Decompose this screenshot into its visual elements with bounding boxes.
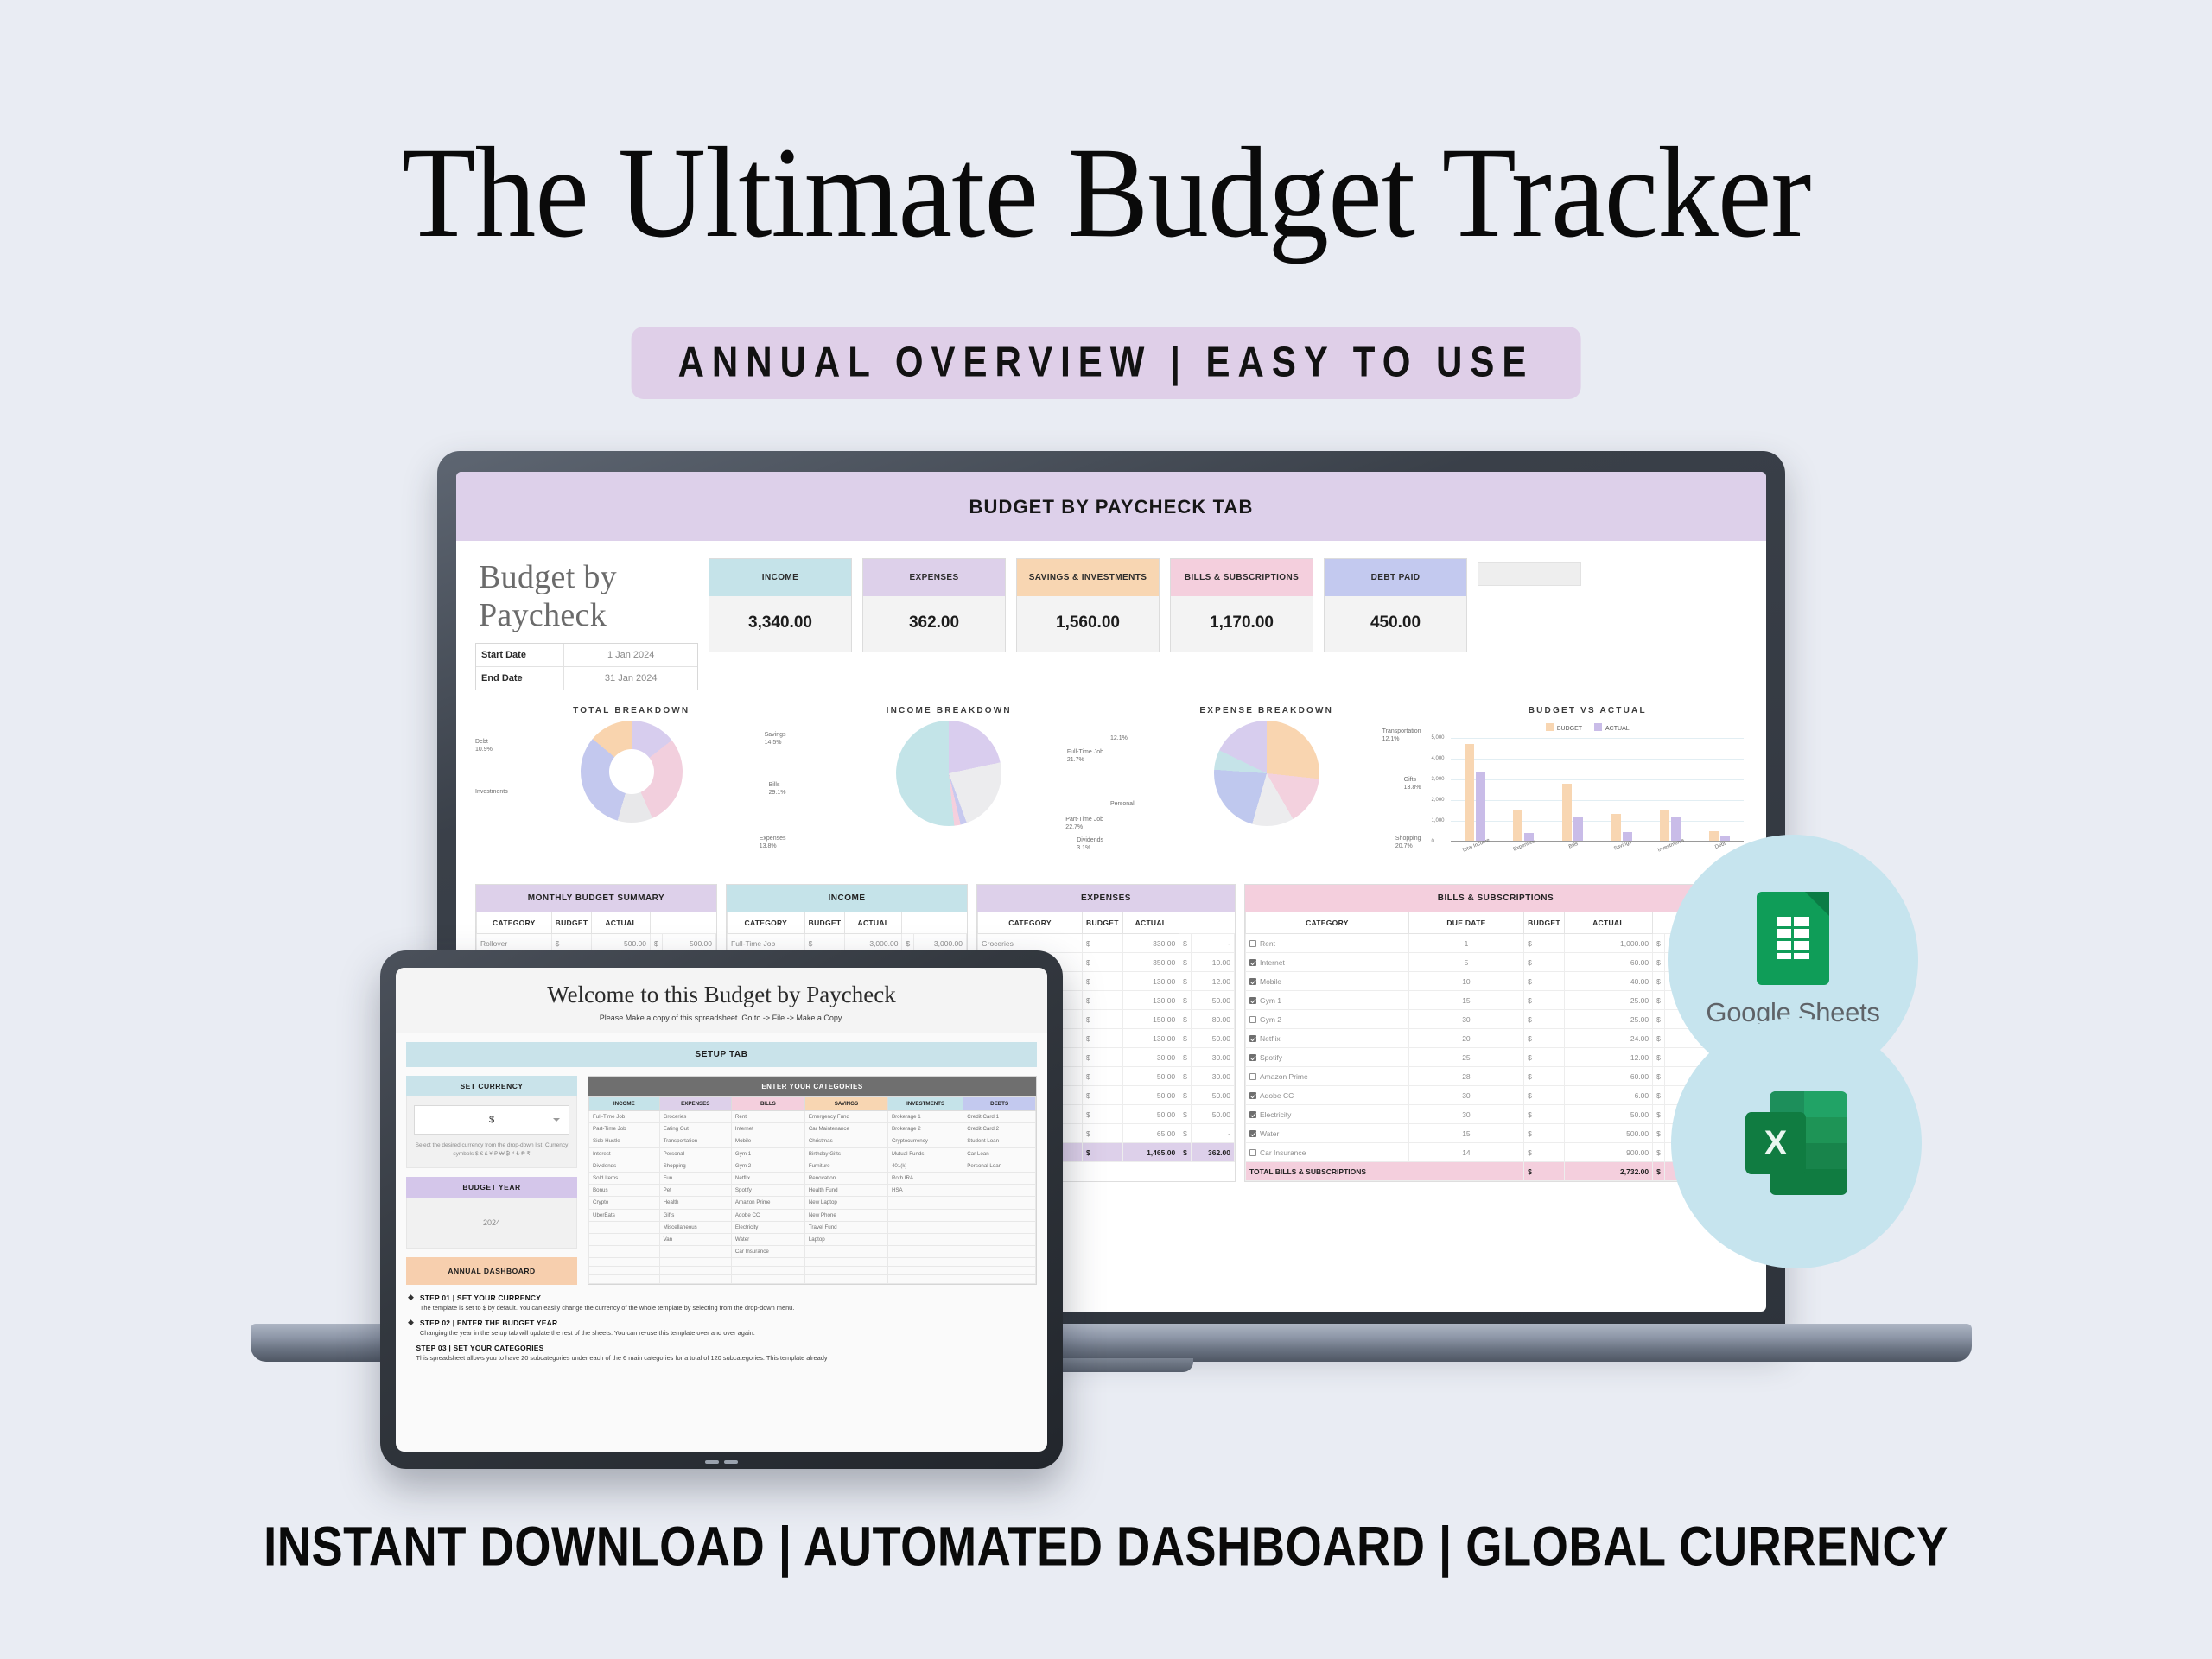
cat-cell[interactable]: Personal [659, 1147, 731, 1160]
cat-cell[interactable]: Fun [659, 1172, 731, 1184]
cat-cell[interactable]: Car Maintenance [804, 1123, 887, 1135]
cat-row: Part-Time JobEating OutInternetCar Maint… [589, 1123, 1036, 1135]
cell-category[interactable]: Spotify [1246, 1048, 1409, 1067]
cat-cell[interactable]: Gym 1 [731, 1147, 804, 1160]
cat-cell[interactable]: Health Fund [804, 1185, 887, 1197]
cat-cell[interactable]: Groceries [659, 1111, 731, 1123]
y-tick: 0 [1432, 839, 1434, 844]
cell-due-date[interactable]: 14 [1408, 1143, 1523, 1162]
kpi-card: SAVINGS & INVESTMENTS 1,560.00 [1016, 558, 1160, 652]
cell-budget[interactable]: 330.00 [1122, 934, 1179, 953]
col-header: BUDGET [1524, 912, 1565, 934]
cell-category[interactable]: Water [1246, 1124, 1409, 1143]
bar-group [1562, 784, 1583, 841]
cat-row: VanWaterLaptop [589, 1233, 1036, 1245]
slice-label: Savings14.5% [765, 732, 786, 747]
sheet-grid-icon [1773, 914, 1813, 959]
cat-cell[interactable] [963, 1267, 1036, 1275]
cat-cell[interactable] [887, 1258, 963, 1267]
cat-cell[interactable]: Side Hustle [589, 1135, 660, 1147]
col-header: CATEGORY [728, 912, 805, 934]
subtitle-text: ANNUAL OVERVIEW | EASY TO USE [678, 338, 1535, 387]
categories-caption: ENTER YOUR CATEGORIES [588, 1077, 1036, 1096]
cell-actual[interactable]: 10.00 [1191, 953, 1234, 972]
step-title: STEP 03 | SET YOUR CATEGORIES [416, 1344, 828, 1352]
cell-budget[interactable]: 25.00 [1564, 991, 1652, 1010]
bill-checkbox[interactable] [1249, 1073, 1256, 1080]
tablet-screen: Welcome to this Budget by Paycheck Pleas… [396, 968, 1047, 1452]
bar-budget [1465, 744, 1474, 841]
chart-title: TOTAL BREAKDOWN [475, 706, 788, 715]
cat-cell[interactable]: Cryptocurrency [887, 1135, 963, 1147]
tablet-header: Welcome to this Budget by Paycheck Pleas… [396, 968, 1047, 1033]
excel-badge: X [1671, 1018, 1922, 1268]
kpi-label: BILLS & SUBSCRIPTIONS [1171, 559, 1313, 596]
table-row: Gym 1 15 $25.00 $25.00 [1246, 991, 1746, 1010]
cat-cell[interactable]: HSA [887, 1185, 963, 1197]
table-row: Electricity 30 $50.00 $ [1246, 1105, 1746, 1124]
table-caption: BILLS & SUBSCRIPTIONS [1245, 885, 1746, 912]
total-actual: 362.00 [1191, 1143, 1234, 1162]
cat-cell[interactable] [731, 1267, 804, 1275]
bar-group [1513, 810, 1534, 841]
bar-actual [1573, 817, 1583, 841]
cat-cell[interactable] [887, 1209, 963, 1221]
bar-budget [1709, 831, 1719, 841]
cat-cell[interactable]: Interest [589, 1147, 660, 1160]
bar-budget [1513, 810, 1522, 841]
chart-title: EXPENSE BREAKDOWN [1110, 706, 1423, 715]
legend-actual: ACTUAL [1605, 726, 1630, 732]
cat-cell[interactable]: Mobile [731, 1135, 804, 1147]
cat-cell[interactable]: Dividends [589, 1160, 660, 1172]
cell-budget[interactable]: 1,000.00 [1564, 934, 1652, 953]
cell-actual[interactable]: 30.00 [1191, 1048, 1234, 1067]
cell-budget[interactable]: 900.00 [1564, 1143, 1652, 1162]
y-tick: 3,000 [1432, 777, 1445, 782]
cat-row: Car Insurance [589, 1246, 1036, 1258]
cat-cell[interactable] [659, 1258, 731, 1267]
cell-budget[interactable]: 60.00 [1564, 953, 1652, 972]
bar-budget [1611, 814, 1621, 841]
cat-cell[interactable]: Spotify [731, 1185, 804, 1197]
cat-row: BonusPetSpotifyHealth FundHSA [589, 1185, 1036, 1197]
bar-budget [1660, 810, 1669, 841]
cat-cell[interactable]: Gifts [659, 1209, 731, 1221]
bill-checkbox[interactable] [1249, 1035, 1256, 1042]
cell-category[interactable]: Internet [1246, 953, 1409, 972]
cell-budget[interactable]: 40.00 [1564, 972, 1652, 991]
budget-year-header: BUDGET YEAR [406, 1177, 577, 1198]
cell-budget[interactable]: 150.00 [1122, 1010, 1179, 1029]
cat-cell[interactable] [589, 1246, 660, 1258]
cell-budget[interactable]: 60.00 [1564, 1067, 1652, 1086]
cell-budget[interactable]: 130.00 [1122, 972, 1179, 991]
cell-budget[interactable]: 50.00 [1122, 1067, 1179, 1086]
cell-due-date[interactable]: 10 [1408, 972, 1523, 991]
bill-checkbox[interactable] [1249, 1092, 1256, 1099]
cat-cell[interactable] [804, 1246, 887, 1258]
col-header: ACTUAL [1122, 912, 1179, 934]
cell-due-date[interactable]: 15 [1408, 1124, 1523, 1143]
bill-checkbox[interactable] [1249, 1016, 1256, 1023]
col-header: DUE DATE [1408, 912, 1523, 934]
cat-cell[interactable]: Transportation [659, 1135, 731, 1147]
cell-category[interactable]: Netflix [1246, 1029, 1409, 1048]
cat-cell[interactable]: Credit Card 2 [963, 1123, 1036, 1135]
col-header: BUDGET [804, 912, 845, 934]
col-header: CATEGORY [978, 912, 1083, 934]
slice-label: Transportation12.1% [1382, 728, 1421, 744]
table-row: Gym 2 30 $25.00 $- [1246, 1010, 1746, 1029]
cell-actual[interactable]: 50.00 [1191, 1086, 1234, 1105]
kpi-label: EXPENSES [863, 559, 1005, 596]
cell-due-date[interactable]: 28 [1408, 1067, 1523, 1086]
slice-label: Investments [475, 789, 508, 797]
cell-budget[interactable]: 130.00 [1122, 1029, 1179, 1048]
cat-cell[interactable]: Renovation [804, 1172, 887, 1184]
cat-cell[interactable]: Roth IRA [887, 1172, 963, 1184]
cell-actual[interactable]: 50.00 [1191, 1029, 1234, 1048]
bar-group [1660, 810, 1681, 841]
cat-cell[interactable] [659, 1275, 731, 1284]
categories-table[interactable]: INCOMEEXPENSESBILLSSAVINGSINVESTMENTSDEB… [588, 1096, 1036, 1284]
date-value[interactable]: 1 Jan 2024 [564, 644, 697, 666]
date-label: Start Date [476, 644, 564, 666]
cat-cell[interactable] [731, 1275, 804, 1284]
col-header: ACTUAL [592, 912, 651, 934]
cat-cell[interactable] [589, 1275, 660, 1284]
slice-label: Bills29.1% [769, 782, 786, 798]
cell-budget[interactable]: 65.00 [1122, 1124, 1179, 1143]
cat-cell[interactable] [804, 1275, 887, 1284]
charts-row: TOTAL BREAKDOWN Debt10.9% Savings14.5% B… [475, 706, 1747, 870]
cat-cell[interactable] [804, 1267, 887, 1275]
cat-cell[interactable] [887, 1246, 963, 1258]
cat-cell[interactable]: Health [659, 1197, 731, 1209]
tablet-mockup: Welcome to this Budget by Paycheck Pleas… [380, 950, 1063, 1469]
y-tick: 1,000 [1432, 818, 1445, 823]
cat-cell[interactable]: Mutual Funds [887, 1147, 963, 1160]
set-currency-panel: $ Select the desired currency from the d… [406, 1096, 577, 1168]
cat-cell[interactable]: Car Insurance [731, 1246, 804, 1258]
set-currency-header: SET CURRENCY [406, 1076, 577, 1096]
bill-checkbox[interactable] [1249, 1149, 1256, 1156]
welcome-subtitle: Please Make a copy of this spreadsheet. … [404, 1014, 1039, 1022]
cat-cell[interactable]: Christmas [804, 1135, 887, 1147]
cat-cell[interactable] [887, 1267, 963, 1275]
bill-checkbox[interactable] [1249, 1111, 1256, 1118]
total-label: TOTAL BILLS & SUBSCRIPTIONS [1246, 1162, 1524, 1181]
cell-due-date[interactable]: 30 [1408, 1105, 1523, 1124]
slice-label: Full-Time Job21.7% [1067, 749, 1103, 765]
currency-note: Select the desired currency from the dro… [414, 1141, 569, 1159]
donut-chart [581, 721, 683, 823]
step-title: STEP 02 | ENTER THE BUDGET YEAR [420, 1319, 755, 1327]
cat-cell[interactable]: Crypto [589, 1197, 660, 1209]
cell-budget[interactable]: 50.00 [1564, 1105, 1652, 1124]
cell-category[interactable]: Car Insurance [1246, 1143, 1409, 1162]
cat-row: CryptoHealthAmazon PrimeNew Laptop [589, 1197, 1036, 1209]
cell-category[interactable]: Gym 1 [1246, 991, 1409, 1010]
cell-budget[interactable]: 24.00 [1564, 1029, 1652, 1048]
pie-chart [896, 721, 1001, 826]
cat-cell[interactable] [963, 1221, 1036, 1233]
cat-cell[interactable] [963, 1233, 1036, 1245]
bar-actual [1623, 832, 1632, 841]
bill-checkbox[interactable] [1249, 959, 1256, 966]
setup-tab-banner: SETUP TAB [406, 1042, 1037, 1067]
date-value[interactable]: 31 Jan 2024 [564, 667, 697, 690]
cell-actual[interactable]: 12.00 [1191, 972, 1234, 991]
cat-cell[interactable] [963, 1172, 1036, 1184]
bar-group [1611, 814, 1632, 841]
cat-cell[interactable]: Eating Out [659, 1123, 731, 1135]
cell-category[interactable]: Electricity [1246, 1105, 1409, 1124]
bar-actual [1720, 836, 1730, 841]
col-header: BUDGET [551, 912, 592, 934]
cat-cell[interactable]: Full-Time Job [589, 1111, 660, 1123]
kpi-label: SAVINGS & INVESTMENTS [1017, 559, 1159, 596]
slice-label: Dividends3.1% [1077, 837, 1103, 853]
cat-cell[interactable] [963, 1275, 1036, 1284]
cat-cell[interactable] [887, 1233, 963, 1245]
chart-expense-breakdown: EXPENSE BREAKDOWN 12.1% Transportation12… [1110, 706, 1423, 870]
cat-cell[interactable] [887, 1197, 963, 1209]
cat-cell[interactable] [589, 1258, 660, 1267]
cat-cell[interactable]: UberEats [589, 1209, 660, 1221]
cell-budget[interactable]: 30.00 [1122, 1048, 1179, 1067]
y-tick: 2,000 [1432, 798, 1445, 803]
cell-budget[interactable]: 350.00 [1122, 953, 1179, 972]
bullet-icon [408, 1344, 410, 1363]
bill-checkbox[interactable] [1249, 978, 1256, 985]
cell-due-date[interactable]: 15 [1408, 991, 1523, 1010]
google-sheets-icon [1757, 892, 1829, 985]
budget-year-panel: 2024 [406, 1198, 577, 1249]
cat-cell[interactable] [659, 1267, 731, 1275]
cat-row [589, 1275, 1036, 1284]
blank-cell [1478, 562, 1581, 586]
cat-cell[interactable]: Rent [731, 1111, 804, 1123]
cat-col-header: SAVINGS [804, 1097, 887, 1111]
cat-cell[interactable]: Netflix [731, 1172, 804, 1184]
step-item: ◆ STEP 02 | ENTER THE BUDGET YEAR Changi… [408, 1319, 1035, 1338]
cat-cell[interactable]: Internet [731, 1123, 804, 1135]
cat-cell[interactable]: Furniture [804, 1160, 887, 1172]
cell-due-date[interactable]: 20 [1408, 1029, 1523, 1048]
bill-checkbox[interactable] [1249, 1054, 1256, 1061]
legend-budget: BUDGET [1557, 726, 1582, 732]
step-item: STEP 03 | SET YOUR CATEGORIES This sprea… [408, 1344, 1035, 1363]
table-row: Netflix 20 $24.00 $20.00 [1246, 1029, 1746, 1048]
cat-cell[interactable] [963, 1209, 1036, 1221]
cell-due-date[interactable]: 30 [1408, 1086, 1523, 1105]
cat-cell[interactable]: Birthday Gifts [804, 1147, 887, 1160]
cat-cell[interactable] [963, 1197, 1036, 1209]
table-caption: INCOME [727, 885, 967, 912]
cell-due-date[interactable]: 5 [1408, 953, 1523, 972]
cat-cell[interactable] [887, 1275, 963, 1284]
cat-cell[interactable]: Credit Card 1 [963, 1111, 1036, 1123]
cat-cell[interactable] [963, 1185, 1036, 1197]
chart-title: BUDGET VS ACTUAL [1432, 706, 1745, 715]
slice-label: Personal [1110, 801, 1135, 809]
cat-cell[interactable]: Car Loan [963, 1147, 1036, 1160]
slice-label: Expenses13.8% [760, 836, 786, 851]
table-row: Spotify 25 $12.00 $15.00 [1246, 1048, 1746, 1067]
cell-budget[interactable]: 6.00 [1564, 1086, 1652, 1105]
bullet-icon: ◆ [408, 1294, 414, 1313]
cat-cell[interactable]: Sold Items [589, 1172, 660, 1184]
page-title: The Ultimate Budget Tracker [67, 128, 2145, 257]
date-range-table: Start Date1 Jan 2024End Date31 Jan 2024 [475, 643, 698, 690]
cat-cell[interactable] [731, 1258, 804, 1267]
cell-budget[interactable]: 25.00 [1564, 1010, 1652, 1029]
bill-checkbox[interactable] [1249, 1130, 1256, 1137]
cat-row: InterestPersonalGym 1Birthday GiftsMutua… [589, 1147, 1036, 1160]
kpi-card: DEBT PAID 450.00 [1324, 558, 1467, 652]
subtitle-pill: ANNUAL OVERVIEW | EASY TO USE [632, 327, 1581, 399]
cat-cell[interactable]: Emergency Fund [804, 1111, 887, 1123]
cat-cell[interactable]: Water [731, 1233, 804, 1245]
cat-cell[interactable]: Laptop [804, 1233, 887, 1245]
bar-actual [1671, 817, 1681, 841]
table-row: Amazon Prime 28 $60.00 $20.00 [1246, 1067, 1746, 1086]
cat-cell[interactable]: Personal Loan [963, 1160, 1036, 1172]
cat-row: MiscellaneousElectricityTravel Fund [589, 1221, 1036, 1233]
kpi-value: 362.00 [863, 596, 1005, 652]
cat-row: Side HustleTransportationMobileChristmas… [589, 1135, 1036, 1147]
y-tick: 4,000 [1432, 756, 1445, 761]
cat-row: Sold ItemsFunNetflixRenovationRoth IRA [589, 1172, 1036, 1184]
cell-budget[interactable]: 500.00 [1564, 1124, 1652, 1143]
cell-category[interactable]: Rent [1246, 934, 1409, 953]
col-header: CATEGORY [477, 912, 552, 934]
cell-actual[interactable]: 30.00 [1191, 1067, 1234, 1086]
step-body: The template is set to $ by default. You… [420, 1304, 794, 1313]
cat-cell[interactable]: Shopping [659, 1160, 731, 1172]
bill-checkbox[interactable] [1249, 940, 1256, 947]
bar-budget [1562, 784, 1572, 841]
slice-label: 12.1% [1110, 735, 1128, 743]
col-header: BUDGET [1083, 912, 1123, 934]
cat-cell[interactable]: Amazon Prime [731, 1197, 804, 1209]
cat-cell[interactable]: Electricity [731, 1221, 804, 1233]
step-item: ◆ STEP 01 | SET YOUR CURRENCY The templa… [408, 1294, 1035, 1313]
cat-row: UberEatsGiftsAdobe CCNew Phone [589, 1209, 1036, 1221]
total-budget: 1,465.00 [1122, 1143, 1179, 1162]
col-header: ACTUAL [845, 912, 902, 934]
cat-col-header: INVESTMENTS [887, 1097, 963, 1111]
currency-dropdown[interactable]: $ [414, 1105, 569, 1135]
cat-cell[interactable]: Miscellaneous [659, 1221, 731, 1233]
kpi-card: EXPENSES 362.00 [862, 558, 1006, 652]
cat-cell[interactable]: Pet [659, 1185, 731, 1197]
cat-cell[interactable] [589, 1233, 660, 1245]
cat-cell[interactable]: Gym 2 [731, 1160, 804, 1172]
pie-chart [1214, 721, 1319, 826]
cat-cell[interactable]: New Phone [804, 1209, 887, 1221]
cell-category[interactable]: Mobile [1246, 972, 1409, 991]
bar-plot-area: 5,0004,0003,0002,0001,0000 [1451, 738, 1745, 842]
cat-cell[interactable]: Van [659, 1233, 731, 1245]
kpi-card: INCOME 3,340.00 [709, 558, 852, 652]
kpi-label: DEBT PAID [1325, 559, 1466, 596]
tablet-speaker [705, 1460, 738, 1464]
budget-year-value[interactable]: 2024 [414, 1206, 569, 1239]
cat-cell[interactable] [963, 1258, 1036, 1267]
table-caption: MONTHLY BUDGET SUMMARY [476, 885, 716, 912]
cat-cell[interactable] [659, 1246, 731, 1258]
cat-cell[interactable]: New Laptop [804, 1197, 887, 1209]
cell-actual[interactable]: 50.00 [1191, 1105, 1234, 1124]
cat-cell[interactable] [589, 1221, 660, 1233]
cell-actual[interactable]: 80.00 [1191, 1010, 1234, 1029]
cat-cell[interactable]: Adobe CC [731, 1209, 804, 1221]
kpi-value: 3,340.00 [709, 596, 851, 652]
cat-cell[interactable]: Travel Fund [804, 1221, 887, 1233]
cell-category[interactable]: Adobe CC [1246, 1086, 1409, 1105]
cell-actual[interactable]: - [1191, 934, 1234, 953]
cat-cell[interactable]: 401(k) [887, 1160, 963, 1172]
cat-cell[interactable] [804, 1258, 887, 1267]
step-title: STEP 01 | SET YOUR CURRENCY [420, 1294, 794, 1302]
cat-cell[interactable] [589, 1267, 660, 1275]
cat-cell[interactable] [887, 1221, 963, 1233]
cell-actual[interactable]: - [1191, 1124, 1234, 1143]
cat-cell[interactable]: Student Loan [963, 1135, 1036, 1147]
bar-actual [1524, 833, 1534, 841]
cat-cell[interactable]: Bonus [589, 1185, 660, 1197]
table-row: Adobe CC 30 $6.00 $ [1246, 1086, 1746, 1105]
cell-budget[interactable]: 50.00 [1122, 1086, 1179, 1105]
cat-cell[interactable]: Brokerage 2 [887, 1123, 963, 1135]
cell-budget[interactable]: 12.00 [1564, 1048, 1652, 1067]
cell-budget[interactable]: 50.00 [1122, 1105, 1179, 1124]
bar-group [1709, 831, 1730, 841]
cat-cell[interactable] [963, 1246, 1036, 1258]
cat-col-header: EXPENSES [659, 1097, 731, 1111]
steps-list: ◆ STEP 01 | SET YOUR CURRENCY The templa… [396, 1285, 1047, 1363]
kpi-value: 450.00 [1325, 596, 1466, 652]
excel-x-letter: X [1745, 1112, 1806, 1174]
col-header: CATEGORY [1246, 912, 1409, 934]
bill-checkbox[interactable] [1249, 997, 1256, 1004]
excel-icon: X [1745, 1091, 1847, 1195]
slice-label: Debt10.9% [475, 739, 493, 754]
cat-cell[interactable]: Part-Time Job [589, 1123, 660, 1135]
cell-category[interactable]: Gym 2 [1246, 1010, 1409, 1029]
cell-budget[interactable]: 130.00 [1122, 991, 1179, 1010]
cat-cell[interactable]: Brokerage 1 [887, 1111, 963, 1123]
bar-actual [1476, 772, 1485, 841]
cell-actual[interactable]: 50.00 [1191, 991, 1234, 1010]
cell-due-date[interactable]: 25 [1408, 1048, 1523, 1067]
categories-panel: ENTER YOUR CATEGORIES INCOMEEXPENSESBILL… [588, 1076, 1037, 1285]
cell-category[interactable]: Amazon Prime [1246, 1067, 1409, 1086]
annual-dashboard-button[interactable]: ANNUAL DASHBOARD [406, 1257, 577, 1285]
welcome-title: Welcome to this Budget by Paycheck [404, 982, 1039, 1008]
kpi-value: 1,560.00 [1017, 596, 1159, 652]
bar-x-axis: Total IncomeExpensesBillsSavingsInvestme… [1451, 843, 1745, 849]
table-total-row: TOTAL BILLS & SUBSCRIPTIONS $2,732.00 $1… [1246, 1162, 1746, 1181]
date-row: End Date31 Jan 2024 [476, 667, 697, 690]
cell-due-date[interactable]: 1 [1408, 934, 1523, 953]
cell-due-date[interactable]: 30 [1408, 1010, 1523, 1029]
y-tick: 5,000 [1432, 735, 1445, 741]
kpi-label: INCOME [709, 559, 851, 596]
